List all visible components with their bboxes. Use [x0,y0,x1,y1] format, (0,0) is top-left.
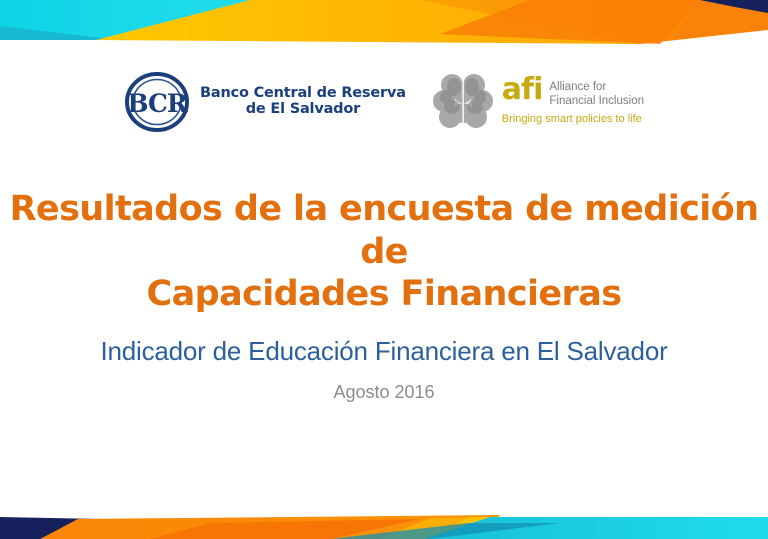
presentation-slide: BCR Banco Central de Reserva de El Salva… [0,0,768,539]
bcr-name-line2: de El Salvador [246,102,360,118]
banner-shape-orange-facet-bottom [150,519,420,539]
title-line-1: Resultados de la encuesta de medición de [0,188,768,273]
banner-shape-orange-bottom [40,515,500,539]
title-line-2: Capacidades Financieras [0,273,768,316]
slide-date: Agosto 2016 [0,382,768,403]
banner-shape-orange [420,0,768,44]
afi-sub-line1: Alliance for [549,81,644,95]
bcr-name-line1: Banco Central de Reserva [200,86,406,102]
bcr-wordmark: Banco Central de Reserva de El Salvador [200,86,406,117]
banner-shape-yellow-bottom [380,517,500,539]
afi-logo: afi Alliance for Financial Inclusion Bri… [432,69,644,135]
slide-subtitle: Indicador de Educación Financiera en El … [0,336,768,367]
banner-shape-orange-facet [440,0,700,44]
banner-shape-navy-bottom [0,517,100,539]
top-decorative-banner [0,0,768,48]
afi-emblem-icon [432,71,494,135]
afi-subtitle: Alliance for Financial Inclusion [549,78,644,109]
afi-text-block: afi Alliance for Financial Inclusion Bri… [502,71,644,125]
afi-top-line: afi Alliance for Financial Inclusion [502,78,644,109]
bottom-decorative-banner [0,493,768,539]
banner-shape-yellow-tip [452,517,500,527]
slide-title: Resultados de la encuesta de medición de… [0,188,768,316]
bcr-emblem-icon: BCR [124,71,190,133]
banner-shape-cyan-dark-bottom [330,523,560,539]
afi-wordmark: afi [502,78,543,103]
svg-text:BCR: BCR [127,89,187,118]
banner-shape-cyan-dark [0,26,118,40]
logo-row: BCR Banco Central de Reserva de El Salva… [0,62,768,142]
top-banner-shapes [0,0,768,48]
banner-shape-orange-right [672,0,768,40]
banner-shape-yellow [96,0,640,44]
afi-tagline: Bringing smart policies to life [502,113,644,125]
banner-shape-navy [700,0,768,13]
bcr-logo: BCR Banco Central de Reserva de El Salva… [124,71,406,133]
banner-shape-cyan-bottom [424,517,768,539]
banner-shape-cyan [0,0,250,40]
bottom-banner-shapes [0,493,768,539]
afi-sub-line2: Financial Inclusion [549,95,644,109]
